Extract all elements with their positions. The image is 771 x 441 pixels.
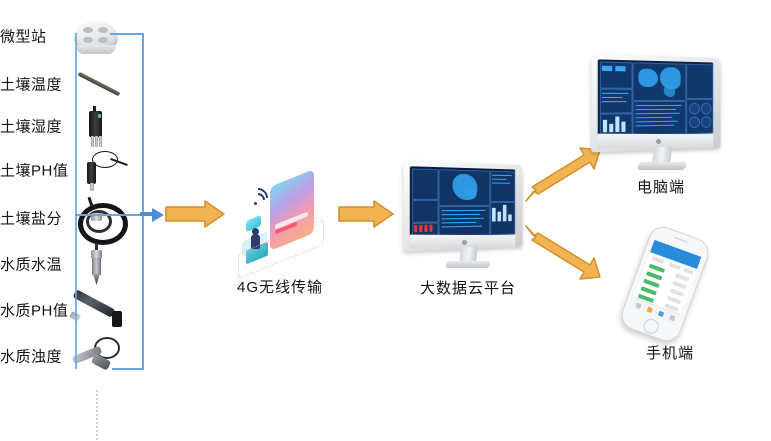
soil-moisture-probe-icon [70, 105, 132, 149]
wireless-transmission-illustration [226, 160, 334, 270]
sensor-item-soil-salinity[interactable]: 土壤盐分 [0, 196, 140, 242]
stage-pc-caption: 电脑端 [586, 176, 736, 197]
sensor-label: 土壤湿度 [0, 120, 62, 135]
sensor-item-soil-temperature[interactable]: 土壤温度 [0, 62, 140, 108]
soil-salinity-probe-icon [70, 197, 132, 241]
soil-ph-probe-icon [70, 149, 132, 193]
sensor-item-water-turbidity[interactable]: 水质浊度 [0, 334, 140, 380]
connector-bus-outlet [75, 214, 145, 216]
iot-architecture-diagram: 微型站 土壤温度 土壤湿度 [0, 0, 771, 441]
sensor-item-water-ph[interactable]: 水质PH值 [0, 288, 140, 334]
sensor-label: 微型站 [0, 30, 47, 45]
sensor-label: 土壤PH值 [0, 164, 68, 179]
stage-transmission-caption: 4G无线传输 [226, 276, 334, 297]
sensor-list-continuation-dots [96, 390, 98, 440]
bus-head-arrow-icon [140, 206, 166, 224]
sensor-label: 水质浊度 [0, 350, 62, 365]
stage-cloud-platform[interactable]: 大数据云平台 [398, 163, 538, 298]
water-turbidity-probe-icon [70, 335, 132, 379]
connector-vertical-bus [142, 33, 144, 370]
imac-bigdata-dashboard [398, 163, 538, 273]
arrow-transmission-to-cloud [338, 199, 396, 229]
sensor-item-water-temperature[interactable]: 水质水温 [0, 242, 140, 288]
sensor-item-micro-station[interactable]: 微型站 [0, 14, 140, 60]
sensor-label: 水质水温 [0, 258, 62, 273]
water-temperature-probe-icon [70, 243, 132, 287]
water-ph-probe-icon [70, 289, 132, 333]
sensor-label: 水质PH值 [0, 304, 68, 319]
sensor-item-soil-moisture[interactable]: 土壤湿度 [0, 104, 140, 150]
stage-transmission[interactable]: 4G无线传输 [226, 160, 334, 297]
imac-monitor-dashboard [586, 56, 736, 174]
arrow-sensors-to-transmission [165, 199, 227, 229]
connector-top-branch [110, 33, 144, 35]
stage-pc-terminal[interactable]: 电脑端 [586, 56, 736, 197]
connector-bottom-branch [112, 368, 144, 370]
stage-mobile-terminal[interactable]: 手机端 [600, 228, 740, 363]
micro-station-icon [70, 15, 132, 59]
smartphone-app-list [617, 223, 712, 346]
sensor-label: 土壤盐分 [0, 212, 62, 227]
sensor-item-soil-ph[interactable]: 土壤PH值 [0, 148, 140, 194]
connector-inner-bus [75, 33, 77, 369]
sensor-label: 土壤温度 [0, 78, 62, 93]
stage-cloud-caption: 大数据云平台 [398, 277, 538, 298]
soil-temperature-probe-icon [70, 63, 132, 107]
arrow-cloud-to-mobile [524, 222, 606, 284]
